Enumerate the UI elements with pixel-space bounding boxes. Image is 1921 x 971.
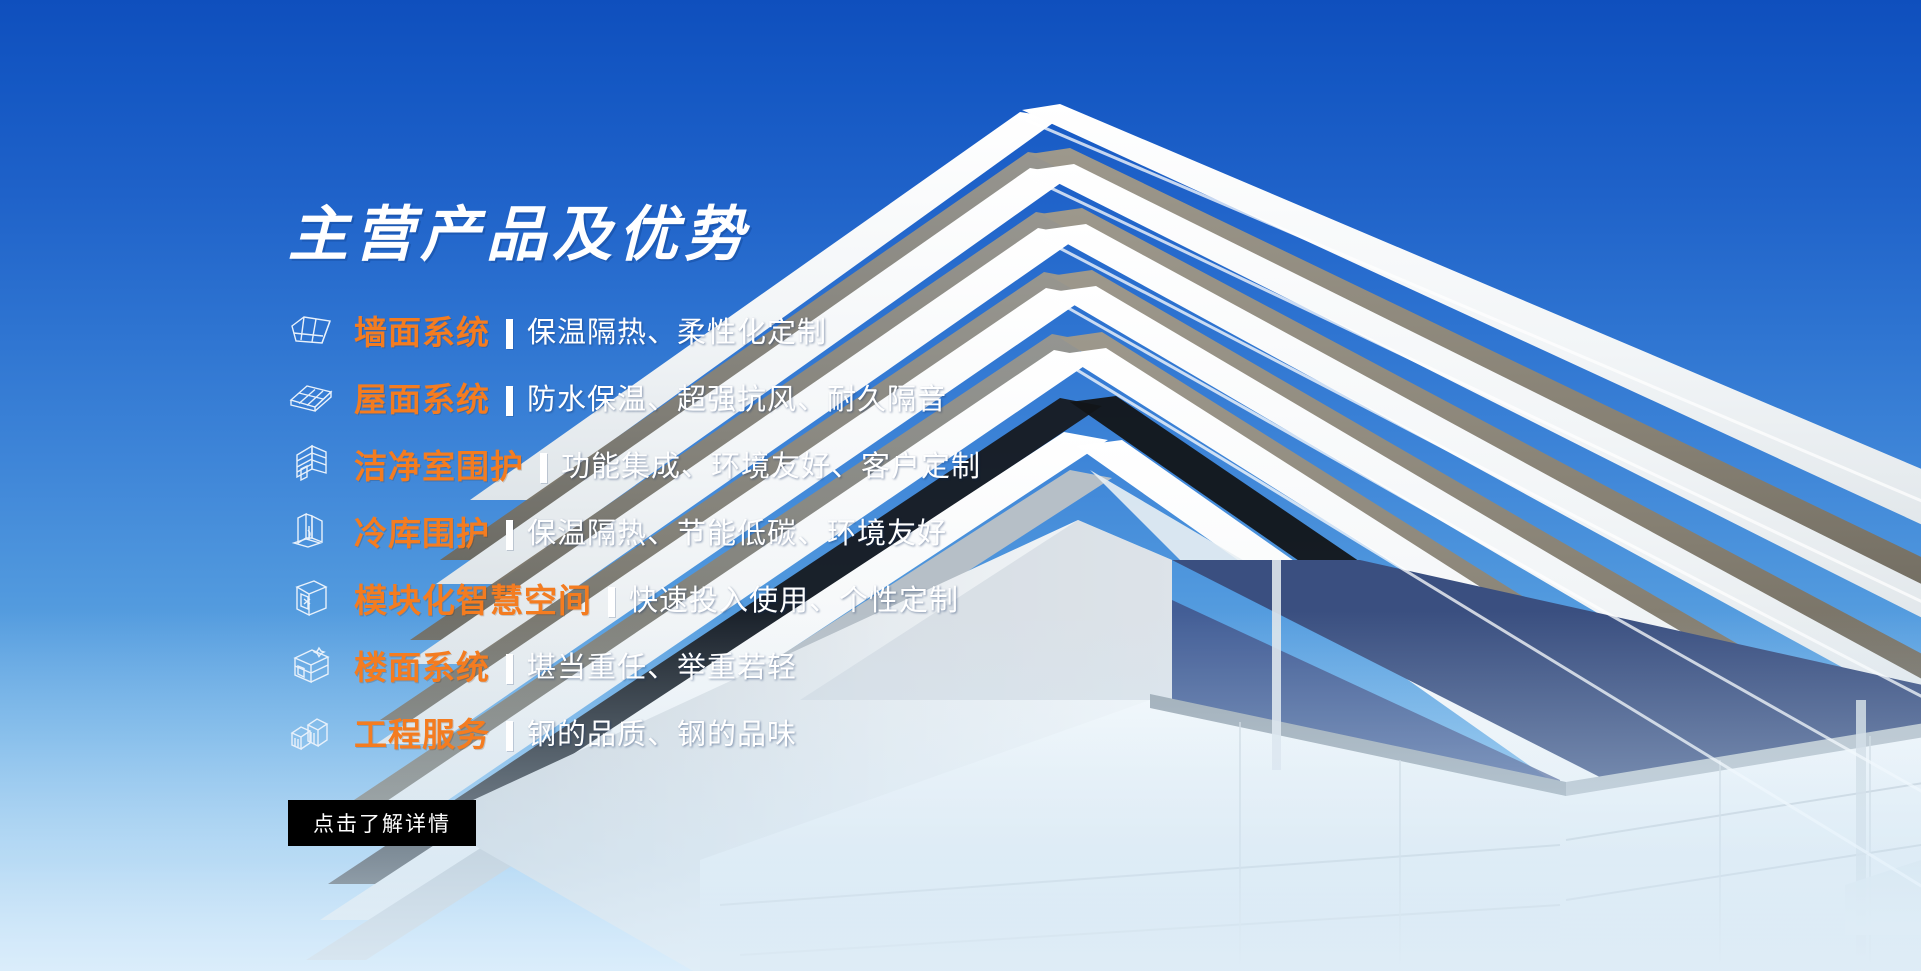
learn-more-button[interactable]: 点击了解详情 [288,800,476,846]
separator-bar [506,654,513,684]
list-item[interactable]: 楼面系统 堪当重任、举重若轻 [288,631,981,698]
product-description: 快速投入使用、个性定制 [629,577,959,619]
page-title: 主营产品及优势 [288,205,750,265]
product-list: 墙面系统 保温隔热、柔性化定制 屋面系统 [288,296,981,765]
product-category: 工程服务 [354,708,490,756]
modular-cube-wireframe-icon [288,575,334,621]
separator-bar [506,520,513,550]
separator-bar [506,721,513,751]
product-category: 墙面系统 [354,306,490,354]
list-item[interactable]: 墙面系统 保温隔热、柔性化定制 [288,296,981,363]
list-item[interactable]: 洁净室围护 功能集成、环境友好、客户定制 [288,430,981,497]
roof-slab-wireframe-icon [288,374,334,420]
product-category: 冷库围护 [354,507,490,555]
separator-bar [540,453,547,483]
separator-bar [608,587,615,617]
list-item[interactable]: 工程服务 钢的品质、钢的品味 [288,698,981,765]
product-category: 屋面系统 [354,373,490,421]
product-description: 堪当重任、举重若轻 [527,644,797,686]
list-item[interactable]: 屋面系统 防水保温、超强抗风、耐久隔音 [288,363,981,430]
floor-deck-cube-wireframe-icon [288,642,334,688]
product-description: 保温隔热、柔性化定制 [527,309,827,351]
product-category: 楼面系统 [354,641,490,689]
product-category: 模块化智慧空间 [354,574,592,622]
product-description: 功能集成、环境友好、客户定制 [561,443,981,485]
banner-content: 主营产品及优势 墙面系统 保温隔热、柔性化定制 [0,0,1100,971]
cleanroom-tower-wireframe-icon [288,441,334,487]
product-advantage-banner: 主营产品及优势 墙面系统 保温隔热、柔性化定制 [0,0,1921,971]
engineering-complex-wireframe-icon [288,709,334,755]
list-item[interactable]: 模块化智慧空间 快速投入使用、个性定制 [288,564,981,631]
wall-panel-wireframe-icon [288,307,334,353]
product-description: 防水保温、超强抗风、耐久隔音 [527,376,947,418]
product-category: 洁净室围护 [354,440,524,488]
coldstorage-walls-wireframe-icon [288,508,334,554]
list-item[interactable]: 冷库围护 保温隔热、节能低碳、环境友好 [288,497,981,564]
product-description: 钢的品质、钢的品味 [527,711,797,753]
product-description: 保温隔热、节能低碳、环境友好 [527,510,947,552]
separator-bar [506,319,513,349]
separator-bar [506,386,513,416]
